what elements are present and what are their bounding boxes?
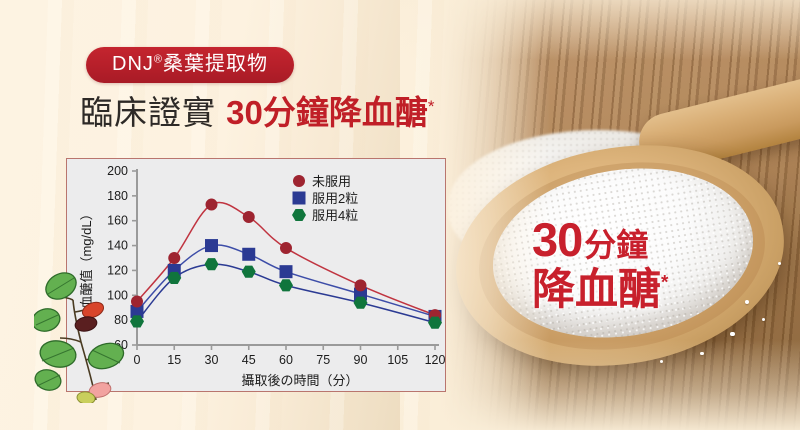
y-tick-label: 200 [107, 164, 128, 178]
data-point [205, 258, 219, 270]
overlay-asterisk: * [661, 273, 668, 294]
headline-asterisk: * [428, 97, 436, 116]
x-tick-label: 90 [354, 353, 368, 367]
mulberry-branch-icon [34, 268, 144, 403]
overlay-claim-text: 降血醣 [532, 266, 661, 314]
x-tick-label: 75 [316, 353, 330, 367]
x-tick-label: 45 [242, 353, 256, 367]
data-point [243, 211, 255, 223]
product-badge: DNJ®桑葉提取物 [86, 47, 294, 83]
x-tick-label: 105 [387, 353, 408, 367]
x-tick-label: 30 [205, 353, 219, 367]
headline-claim: 30分鐘降血醣 [226, 94, 428, 131]
sugar-crystal [778, 262, 781, 265]
overlay-unit: 分鐘 [584, 227, 648, 263]
x-axis-label: 攝取後の時間（分） [241, 373, 358, 388]
data-point [242, 248, 255, 261]
y-tick-label: 140 [107, 239, 128, 253]
sugar-crystal [745, 300, 749, 304]
data-point [205, 239, 218, 252]
x-tick-label: 60 [279, 353, 293, 367]
data-point [355, 279, 367, 291]
data-point [293, 175, 305, 187]
legend-label: 服用4粒 [312, 208, 358, 223]
overlay-line-1: 30分鐘 [532, 216, 668, 263]
y-tick-label: 180 [107, 189, 128, 203]
data-point [280, 242, 292, 254]
registered-trademark-icon: ® [154, 53, 163, 65]
x-tick-label: 120 [425, 353, 445, 367]
promo-banner: DNJ®桑葉提取物 臨床證實 30分鐘降血醣* 6080100120140160… [0, 0, 800, 430]
sugar-crystal [730, 332, 735, 336]
data-point [168, 252, 180, 264]
data-point [293, 192, 306, 205]
data-point [242, 266, 256, 278]
badge-text: 桑葉提取物 [163, 53, 268, 75]
headline: 臨床證實 30分鐘降血醣* [80, 96, 436, 129]
badge-brand: DNJ [112, 53, 154, 75]
sugar-crystal [762, 318, 765, 321]
data-point [279, 279, 293, 291]
overlay-claim: 30分鐘 降血醣* [532, 216, 668, 312]
legend-label: 服用2粒 [312, 191, 358, 206]
overlay-number: 30 [532, 213, 582, 266]
series-line [137, 203, 435, 316]
data-point [206, 199, 218, 211]
overlay-line-2: 降血醣* [532, 269, 668, 312]
x-tick-label: 15 [167, 353, 181, 367]
data-point [280, 265, 293, 278]
headline-prefix: 臨床證實 [80, 94, 216, 131]
legend-label: 未服用 [312, 174, 351, 189]
data-point [292, 209, 306, 221]
y-tick-label: 160 [107, 214, 128, 228]
